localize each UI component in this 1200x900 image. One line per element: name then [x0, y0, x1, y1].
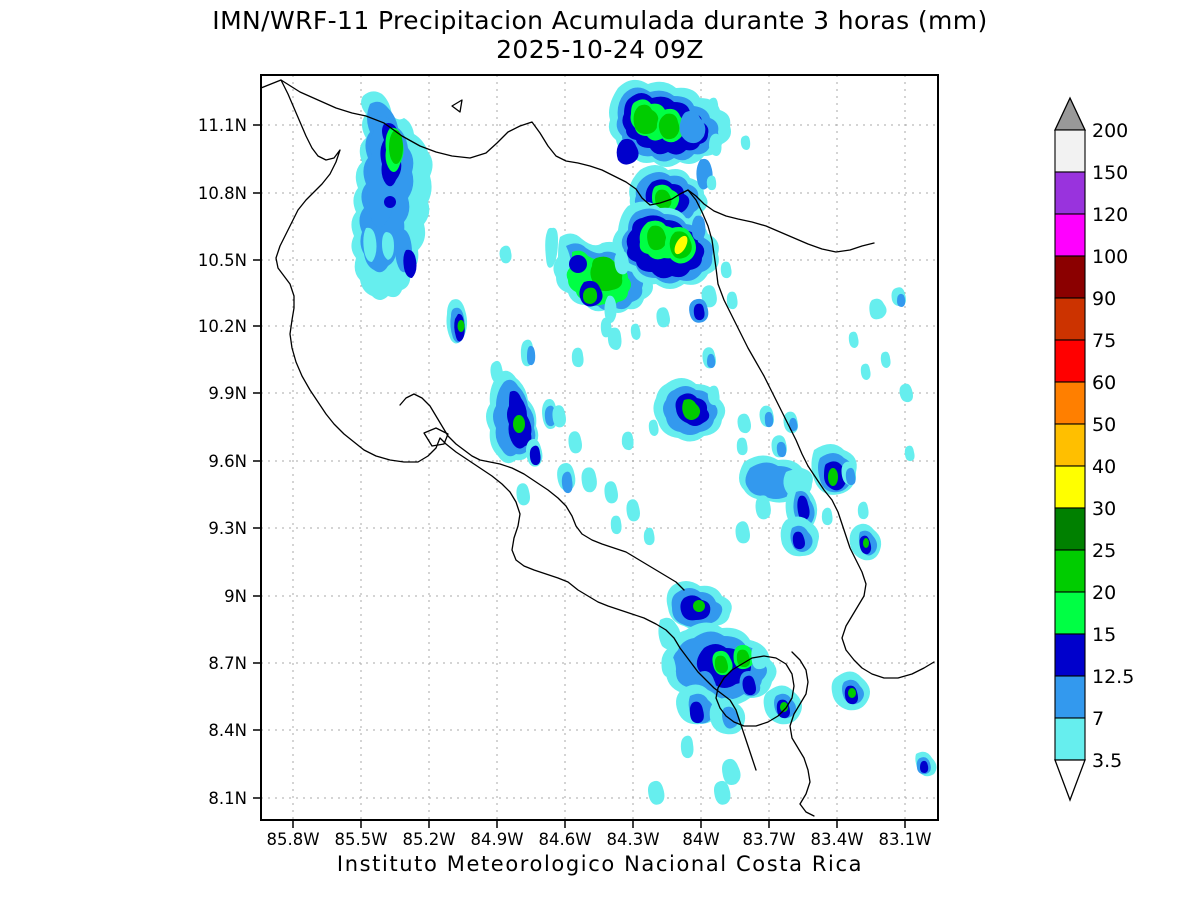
x-tick-label: 84.6W [538, 830, 591, 849]
colorbar-band-25-30 [1055, 508, 1085, 550]
colorbar: 200 150 120 100 90 75 60 50 40 30 25 20 … [1055, 98, 1134, 800]
figure-footer: Instituto Meteorologico Nacional Costa R… [0, 852, 1200, 876]
colorbar-label: 3.5 [1092, 750, 1122, 772]
colorbar-label: 50 [1092, 414, 1116, 436]
y-tick-label: 8.4N [208, 721, 247, 740]
y-tick-label: 10.2N [198, 317, 247, 336]
y-tick-label: 10.8N [198, 184, 247, 203]
weather-map-figure: IMN/WRF-11 Precipitacion Acumulada duran… [0, 0, 1200, 900]
colorbar-label: 200 [1092, 120, 1128, 142]
y-axis-ticks [253, 125, 261, 798]
y-axis-labels: 11.1N 10.8N 10.5N 10.2N 9.9N 9.6N 9.3N 9… [198, 116, 247, 808]
x-tick-label: 83.1W [878, 830, 931, 849]
colorbar-label: 100 [1092, 246, 1128, 268]
colorbar-label: 20 [1092, 582, 1116, 604]
y-tick-label: 9.9N [208, 384, 247, 403]
x-tick-label: 83.4W [810, 830, 863, 849]
colorbar-band-30-40 [1055, 466, 1085, 508]
colorbar-label: 75 [1092, 330, 1116, 352]
x-axis-ticks [293, 820, 905, 828]
y-tick-label: 10.5N [198, 251, 247, 270]
y-tick-label: 8.7N [208, 654, 247, 673]
colorbar-label: 15 [1092, 624, 1116, 646]
colorbar-band-75-90 [1055, 298, 1085, 340]
colorbar-band-7-12_5 [1055, 676, 1085, 718]
x-tick-label: 85.8W [266, 830, 319, 849]
colorbar-band-60-75 [1055, 340, 1085, 382]
map-canvas: 11.1N 10.8N 10.5N 10.2N 9.9N 9.6N 9.3N 9… [0, 0, 1200, 900]
colorbar-label: 150 [1092, 162, 1128, 184]
y-tick-label: 9N [224, 587, 247, 606]
y-tick-label: 11.1N [198, 116, 247, 135]
colorbar-label: 25 [1092, 540, 1116, 562]
colorbar-band-15-20 [1055, 592, 1085, 634]
x-tick-label: 85.2W [402, 830, 455, 849]
colorbar-label: 7 [1092, 708, 1104, 730]
x-axis-labels: 85.8W 85.5W 85.2W 84.9W 84.6W 84.3W 84W … [266, 830, 931, 849]
colorbar-label: 60 [1092, 372, 1116, 394]
colorbar-label: 12.5 [1092, 666, 1134, 688]
x-tick-label: 84.9W [470, 830, 523, 849]
y-tick-label: 9.6N [208, 452, 247, 471]
colorbar-label: 90 [1092, 288, 1116, 310]
colorbar-band-90-100 [1055, 256, 1085, 298]
colorbar-band-50-60 [1055, 382, 1085, 424]
colorbar-label: 40 [1092, 456, 1116, 478]
colorbar-label: 30 [1092, 498, 1116, 520]
x-tick-label: 85.5W [334, 830, 387, 849]
x-tick-label: 84W [682, 830, 719, 849]
colorbar-band-120-150 [1055, 172, 1085, 214]
colorbar-band-150-200 [1055, 130, 1085, 172]
colorbar-band-3_5-7 [1055, 718, 1085, 760]
colorbar-over-arrow [1055, 98, 1085, 130]
colorbar-labels: 200 150 120 100 90 75 60 50 40 30 25 20 … [1092, 120, 1134, 772]
colorbar-band-20-25 [1055, 550, 1085, 592]
colorbar-label: 120 [1092, 204, 1128, 226]
colorbar-band-12_5-15 [1055, 634, 1085, 676]
colorbar-under-arrow [1055, 760, 1085, 800]
y-tick-label: 9.3N [208, 519, 247, 538]
colorbar-band-100-120 [1055, 214, 1085, 256]
x-tick-label: 84.3W [606, 830, 659, 849]
colorbar-band-40-50 [1055, 424, 1085, 466]
x-tick-label: 83.7W [742, 830, 795, 849]
y-tick-label: 8.1N [208, 789, 247, 808]
